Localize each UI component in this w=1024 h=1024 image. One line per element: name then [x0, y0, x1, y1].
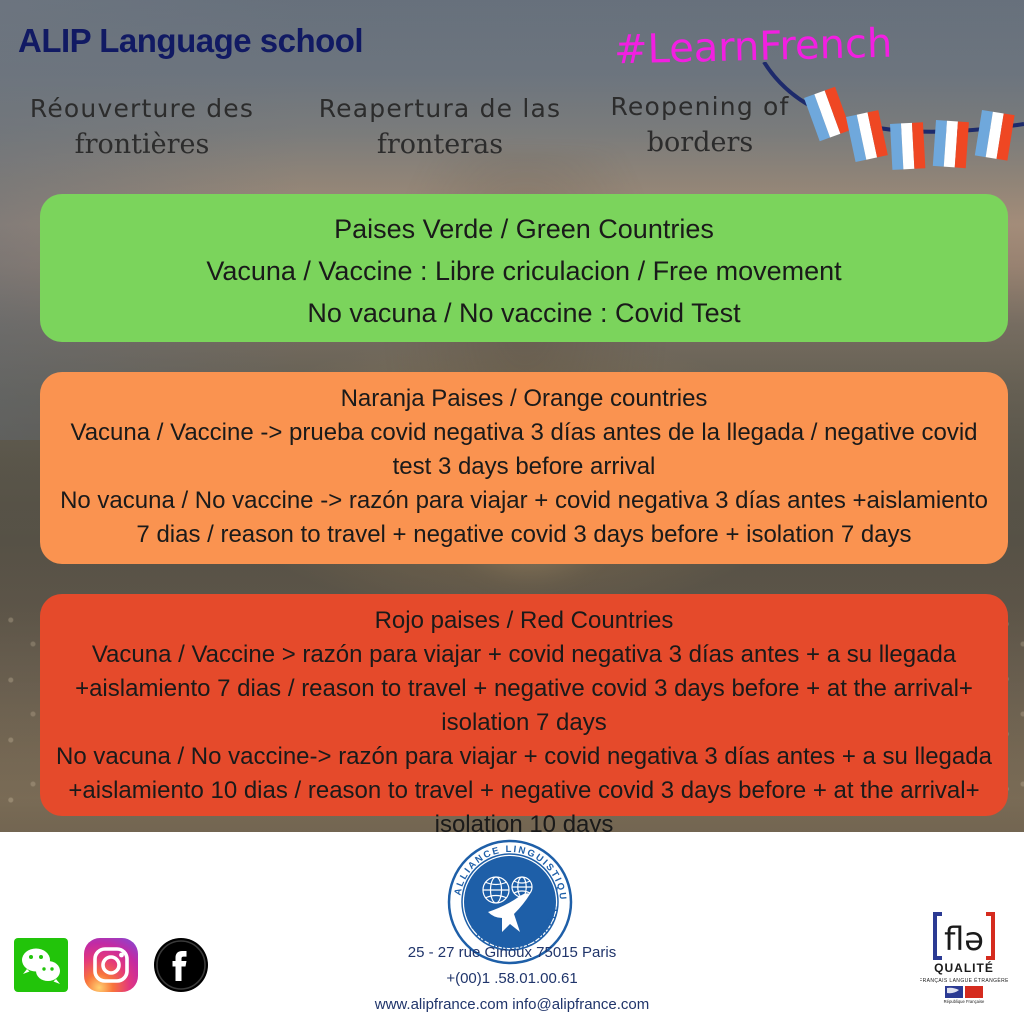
- green-box-line-2: No vacuna / No vaccine : Covid Test: [54, 292, 994, 334]
- contact-address: 25 - 27 rue Ginoux 75015 Paris: [0, 940, 1024, 966]
- fle-qualite-logo: flə QUALITÉ FRANÇAIS LANGUE ÉTRANGÈRE Ré…: [920, 908, 1008, 1006]
- red-box-title: Rojo paises / Red Countries: [54, 604, 994, 638]
- green-countries-box: Paises Verde / Green Countries Vacuna / …: [40, 194, 1008, 342]
- poster-canvas: ALIP Language school #LearnFrench Réouve…: [0, 0, 1024, 1024]
- svg-text:FRANÇAIS LANGUE ÉTRANGÈRE: FRANÇAIS LANGUE ÉTRANGÈRE: [920, 977, 1008, 984]
- green-box-title: Paises Verde / Green Countries: [54, 208, 994, 250]
- bunting-icon: [760, 62, 1024, 182]
- contact-block: 25 - 27 rue Ginoux 75015 Paris +(00)1 .5…: [0, 940, 1024, 1017]
- orange-countries-box: Naranja Paises / Orange countries Vacuna…: [40, 372, 1008, 564]
- headline-spanish-line2: fronteras: [300, 131, 580, 158]
- green-box-line-1: Vacuna / Vaccine : Libre criculacion / F…: [54, 250, 994, 292]
- contact-web-email[interactable]: www.alipfrance.com info@alipfrance.com: [0, 992, 1024, 1018]
- orange-box-line-1: Vacuna / Vaccine -> prueba covid negativ…: [54, 416, 994, 484]
- headline-spanish-line1: Reapertura de las: [300, 96, 580, 121]
- headline-french-line1: Réouverture des: [8, 96, 276, 121]
- svg-text:QUALITÉ: QUALITÉ: [934, 960, 994, 975]
- contact-phone: +(00)1 .58.01.00.61: [0, 966, 1024, 992]
- headline-spanish: Reapertura de las fronteras: [300, 96, 580, 158]
- headline-french: Réouverture des frontières: [8, 96, 276, 158]
- french-flag-bunting: [760, 62, 1024, 182]
- fle-qualite-icon: flə QUALITÉ FRANÇAIS LANGUE ÉTRANGÈRE Ré…: [920, 908, 1008, 1006]
- footer: ALLIANCE LINGUISTIQUE • DE PARIS • INTER…: [0, 832, 1024, 1024]
- red-box-line-2: No vacuna / No vaccine-> razón para viaj…: [54, 740, 994, 842]
- svg-text:République Française: République Française: [944, 999, 985, 1004]
- headline-french-line2: frontières: [8, 131, 276, 158]
- brand-title: ALIP Language school: [18, 22, 363, 60]
- orange-box-line-2: No vacuna / No vaccine -> razón para via…: [54, 484, 994, 552]
- red-countries-box: Rojo paises / Red Countries Vacuna / Vac…: [40, 594, 1008, 816]
- svg-text:flə: flə: [944, 920, 984, 958]
- red-box-line-1: Vacuna / Vaccine > razón para viajar + c…: [54, 638, 994, 740]
- orange-box-title: Naranja Paises / Orange countries: [54, 382, 994, 416]
